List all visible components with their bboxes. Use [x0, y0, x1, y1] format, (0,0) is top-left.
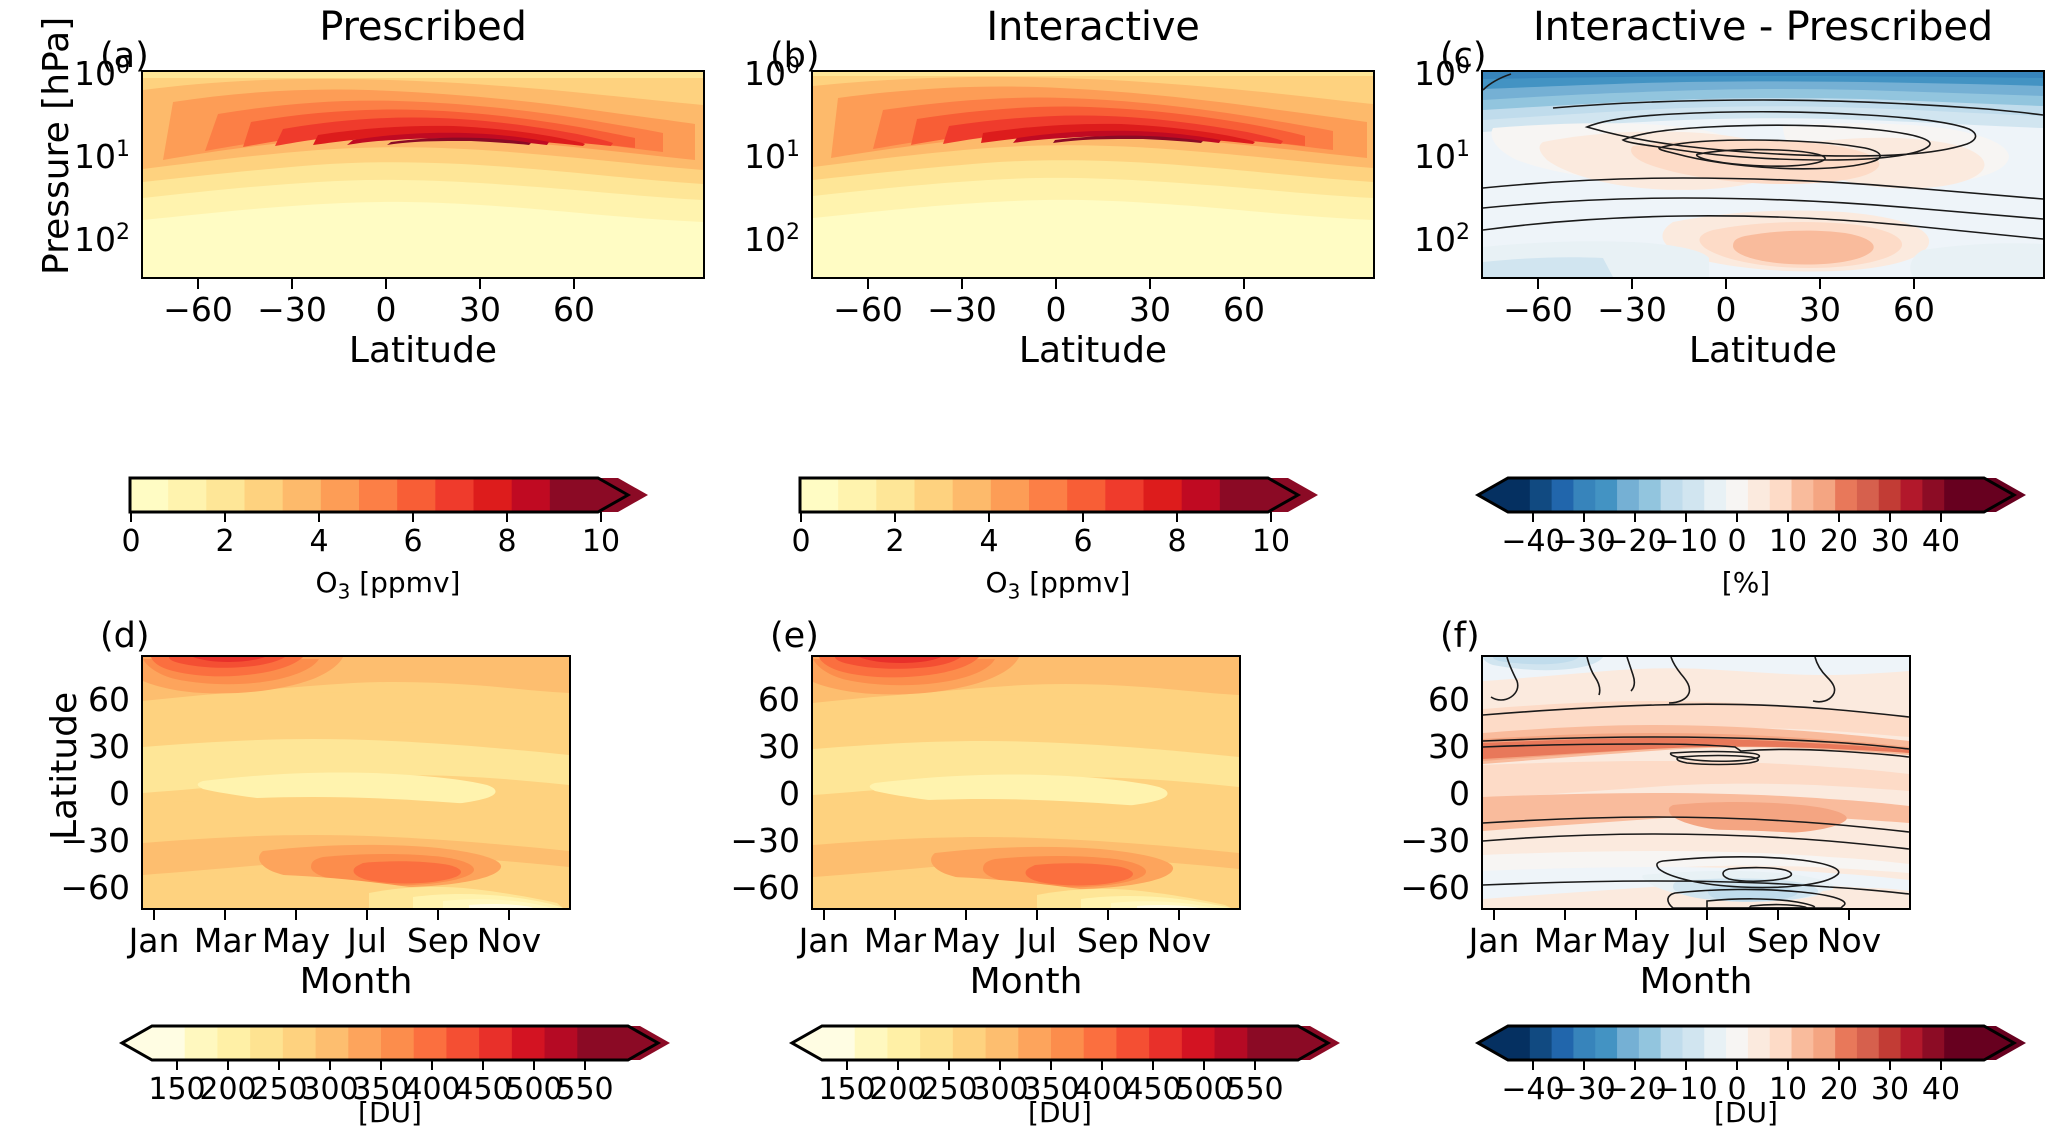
colorbar-e	[780, 1022, 1340, 1064]
cbar-e-tick-8	[1254, 1060, 1256, 1070]
cbar-d-tick-3	[329, 1060, 331, 1070]
cbar-a-tick-0	[130, 512, 132, 522]
cbar-d-tick-0	[176, 1060, 178, 1070]
cbar-b-tick-4	[1176, 512, 1178, 522]
cbar-c-tick-1	[1583, 512, 1585, 522]
panel-f-plot	[1481, 655, 1911, 910]
cbar-f-tick-7	[1889, 1060, 1891, 1070]
cbar-f-tick-8	[1940, 1060, 1942, 1070]
panel-f-ytick-3: −30	[1360, 821, 1470, 860]
panel-f-ytick-2: 0	[1360, 774, 1470, 813]
panel-a-xlabel: Latitude	[141, 330, 705, 371]
cbar-c-tick-0	[1532, 512, 1534, 522]
column-title-difference: Interactive - Prescribed	[1481, 4, 2045, 50]
panel-f-xtick-5: Nov	[1799, 921, 1899, 960]
panel-f-xtick-mark-0	[1493, 910, 1495, 920]
cbar-b-label-4: 8	[1127, 524, 1227, 559]
panel-e-xtick-5: Nov	[1129, 921, 1229, 960]
cbar-c-label-8: 40	[1891, 524, 1991, 559]
cbar-a-tick-3	[412, 512, 414, 522]
panel-c-xlabel: Latitude	[1481, 330, 2045, 371]
cbar-b-tick-0	[800, 512, 802, 522]
colorbar-a	[128, 474, 648, 516]
cbar-e-tick-6	[1152, 1060, 1154, 1070]
cbar-f-tick-3	[1685, 1060, 1687, 1070]
panel-e-ytick-3: −30	[690, 821, 800, 860]
panel-b-xtick-mark-4	[1243, 279, 1245, 289]
panel-b-ytick-0: 100	[690, 54, 800, 93]
cbar-b-tick-1	[894, 512, 896, 522]
panel-d-xtick-mark-0	[153, 910, 155, 920]
panel-f-ytick-1: 30	[1360, 727, 1470, 766]
panel-c-xtick-4: 60	[1854, 290, 1974, 329]
panel-letter-f: (f)	[1440, 616, 1480, 656]
panel-a-xtick-mark-1	[291, 279, 293, 289]
panel-d-xtick-mark-5	[508, 910, 510, 920]
panel-b-xlabel: Latitude	[811, 330, 1375, 371]
cbar-d-tick-4	[380, 1060, 382, 1070]
column-title-prescribed: Prescribed	[141, 4, 705, 50]
cbar-c-tick-3	[1685, 512, 1687, 522]
cbar-f-tick-0	[1532, 1060, 1534, 1070]
panel-c-xtick-mark-1	[1631, 279, 1633, 289]
cbar-f-tick-1	[1583, 1060, 1585, 1070]
cbar-a-label-3: 6	[363, 524, 463, 559]
cbar-d-tick-2	[278, 1060, 280, 1070]
cbar-f-title: [DU]	[1466, 1096, 2026, 1129]
cbar-e-tick-5	[1101, 1060, 1103, 1070]
cbar-e-tick-1	[897, 1060, 899, 1070]
panel-e-xtick-mark-3	[1036, 910, 1038, 920]
panel-b-xtick-mark-0	[867, 279, 869, 289]
panel-e-ytick-0: 60	[690, 680, 800, 719]
cbar-a-label-1: 2	[175, 524, 275, 559]
panel-c-xtick-mark-3	[1819, 279, 1821, 289]
cbar-d-title: [DU]	[110, 1096, 670, 1129]
panel-a-xtick-mark-2	[385, 279, 387, 289]
panel-f-ytick-0: 60	[1360, 680, 1470, 719]
cbar-a-label-2: 4	[269, 524, 369, 559]
panel-c-xtick-mark-0	[1537, 279, 1539, 289]
cbar-a-tick-5	[600, 512, 602, 522]
panel-b-ytick-1: 101	[690, 137, 800, 176]
cbar-a-label-4: 8	[457, 524, 557, 559]
panel-c-ytick-2: 102	[1360, 220, 1470, 259]
cbar-d-tick-8	[584, 1060, 586, 1070]
panel-f-xlabel: Month	[1481, 961, 1911, 1002]
colorbar-d	[110, 1022, 670, 1064]
panel-b-xtick-mark-2	[1055, 279, 1057, 289]
panel-d-xtick-mark-2	[295, 910, 297, 920]
panel-a-xtick-mark-0	[197, 279, 199, 289]
cbar-a-tick-4	[506, 512, 508, 522]
panel-d-xtick-mark-3	[366, 910, 368, 920]
cbar-a-tick-2	[318, 512, 320, 522]
cbar-c-tick-4	[1736, 512, 1738, 522]
panel-b-xtick-mark-1	[961, 279, 963, 289]
cbar-c-tick-2	[1634, 512, 1636, 522]
panel-a-ytick-1: 101	[20, 137, 130, 176]
cbar-a-label-0: 0	[81, 524, 181, 559]
panel-d-xlabel: Month	[141, 961, 571, 1002]
panel-c-plot	[1481, 70, 2045, 279]
panel-a-xtick-mark-4	[573, 279, 575, 289]
panel-e-plot	[811, 655, 1241, 910]
panel-b-xtick-4: 60	[1184, 290, 1304, 329]
colorbar-b	[798, 474, 1318, 516]
panel-d-ytick-3: −30	[20, 821, 130, 860]
panel-b-plot	[811, 70, 1375, 279]
panel-c-xtick-mark-2	[1725, 279, 1727, 289]
colorbar-f	[1466, 1022, 2026, 1064]
cbar-c-title: [%]	[1466, 566, 2026, 599]
cbar-b-label-0: 0	[751, 524, 851, 559]
panel-e-xtick-mark-5	[1178, 910, 1180, 920]
panel-f-xtick-mark-1	[1564, 910, 1566, 920]
panel-c-xtick-mark-4	[1913, 279, 1915, 289]
panel-a-xtick-mark-3	[479, 279, 481, 289]
cbar-b-label-3: 6	[1033, 524, 1133, 559]
panel-letter-e: (e)	[770, 616, 819, 656]
cbar-d-tick-1	[227, 1060, 229, 1070]
panel-f-xtick-mark-3	[1706, 910, 1708, 920]
panel-d-ytick-1: 30	[20, 727, 130, 766]
figure-canvas: Prescribed Interactive Interactive - Pre…	[0, 0, 2067, 1129]
panel-e-xtick-mark-1	[894, 910, 896, 920]
cbar-d-tick-5	[431, 1060, 433, 1070]
cbar-d-tick-6	[482, 1060, 484, 1070]
panel-e-xtick-mark-0	[823, 910, 825, 920]
panel-b-ytick-2: 102	[690, 220, 800, 259]
cbar-a-label-5: 10	[551, 524, 651, 559]
cbar-b-label-2: 4	[939, 524, 1039, 559]
cbar-f-tick-2	[1634, 1060, 1636, 1070]
cbar-f-tick-4	[1736, 1060, 1738, 1070]
panel-d-ytick-4: −60	[20, 868, 130, 907]
cbar-e-tick-2	[948, 1060, 950, 1070]
cbar-b-tick-2	[988, 512, 990, 522]
panel-a-ytick-2: 102	[20, 220, 130, 259]
panel-d-xtick-mark-1	[224, 910, 226, 920]
cbar-b-label-1: 2	[845, 524, 945, 559]
cbar-f-tick-6	[1838, 1060, 1840, 1070]
panel-a-ytick-0: 100	[20, 54, 130, 93]
panel-e-xtick-mark-2	[965, 910, 967, 920]
panel-a-plot	[141, 70, 705, 279]
panel-d-plot	[141, 655, 571, 910]
cbar-c-tick-7	[1889, 512, 1891, 522]
panel-f-xtick-mark-2	[1635, 910, 1637, 920]
panel-e-ytick-4: −60	[690, 868, 800, 907]
cbar-c-tick-5	[1787, 512, 1789, 522]
cbar-f-tick-5	[1787, 1060, 1789, 1070]
cbar-c-tick-8	[1940, 512, 1942, 522]
cbar-b-tick-5	[1270, 512, 1272, 522]
cbar-c-tick-6	[1838, 512, 1840, 522]
cbar-e-tick-3	[999, 1060, 1001, 1070]
panel-d-ytick-2: 0	[20, 774, 130, 813]
panel-c-ytick-1: 101	[1360, 137, 1470, 176]
colorbar-c	[1466, 474, 2026, 516]
panel-b-xtick-mark-3	[1149, 279, 1151, 289]
panel-f-xtick-mark-5	[1848, 910, 1850, 920]
panel-c-ytick-0: 100	[1360, 54, 1470, 93]
cbar-e-tick-0	[846, 1060, 848, 1070]
cbar-d-tick-7	[533, 1060, 535, 1070]
cbar-a-tick-1	[224, 512, 226, 522]
cbar-b-label-5: 10	[1221, 524, 1321, 559]
panel-e-xlabel: Month	[811, 961, 1241, 1002]
cbar-a-title: O3 [ppmv]	[128, 566, 648, 604]
panel-d-ytick-0: 60	[20, 680, 130, 719]
cbar-b-tick-3	[1082, 512, 1084, 522]
panel-e-ytick-2: 0	[690, 774, 800, 813]
panel-f-xtick-mark-4	[1777, 910, 1779, 920]
cbar-e-tick-4	[1050, 1060, 1052, 1070]
panel-d-xtick-5: Nov	[459, 921, 559, 960]
panel-letter-d: (d)	[100, 616, 150, 656]
panel-a-xtick-4: 60	[514, 290, 634, 329]
panel-e-xtick-mark-4	[1107, 910, 1109, 920]
panel-f-ytick-4: −60	[1360, 868, 1470, 907]
panel-d-xtick-mark-4	[437, 910, 439, 920]
cbar-e-tick-7	[1203, 1060, 1205, 1070]
column-title-interactive: Interactive	[811, 4, 1375, 50]
cbar-e-title: [DU]	[780, 1096, 1340, 1129]
panel-e-ytick-1: 30	[690, 727, 800, 766]
cbar-b-title: O3 [ppmv]	[798, 566, 1318, 604]
